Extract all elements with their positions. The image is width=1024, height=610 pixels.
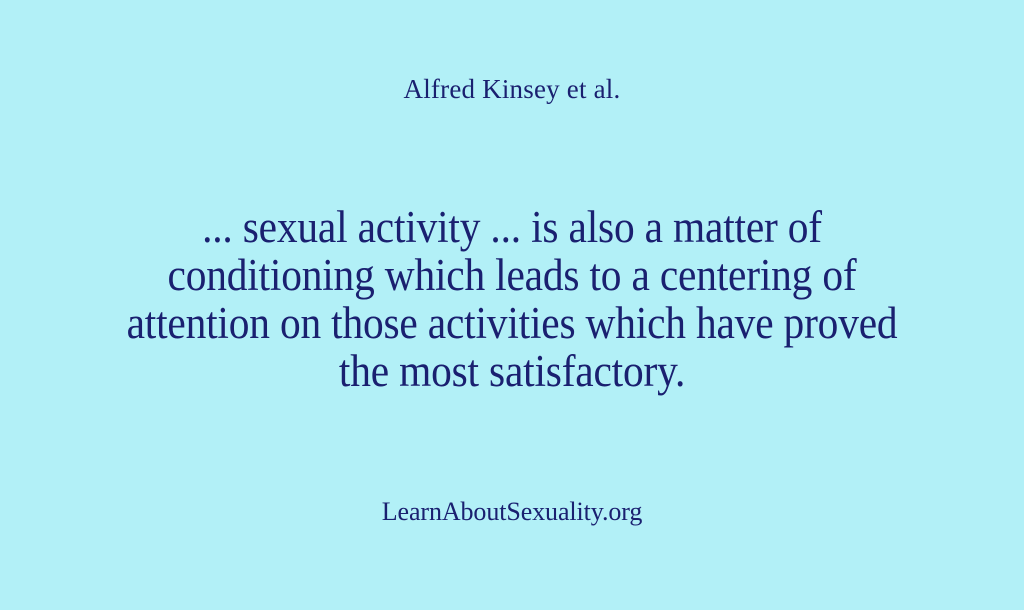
attribution: Alfred Kinsey et al. xyxy=(0,72,1024,106)
quote-line-2: conditioning which leads to a centering … xyxy=(41,251,983,299)
quote-card: Alfred Kinsey et al. ... sexual activity… xyxy=(0,0,1024,610)
footer: LearnAboutSexuality.org xyxy=(0,496,1024,528)
quote-line-1: ... sexual activity ... is also a matter… xyxy=(41,203,983,251)
quote-line-4: the most satisfactory. xyxy=(41,347,983,395)
quote-text: ... sexual activity ... is also a matter… xyxy=(0,203,1024,395)
attribution-author: Alfred Kinsey et al. xyxy=(404,72,621,106)
footer-source-label: LearnAboutSexuality.org xyxy=(382,496,643,528)
quote-line-3: attention on those activities which have… xyxy=(41,299,983,347)
